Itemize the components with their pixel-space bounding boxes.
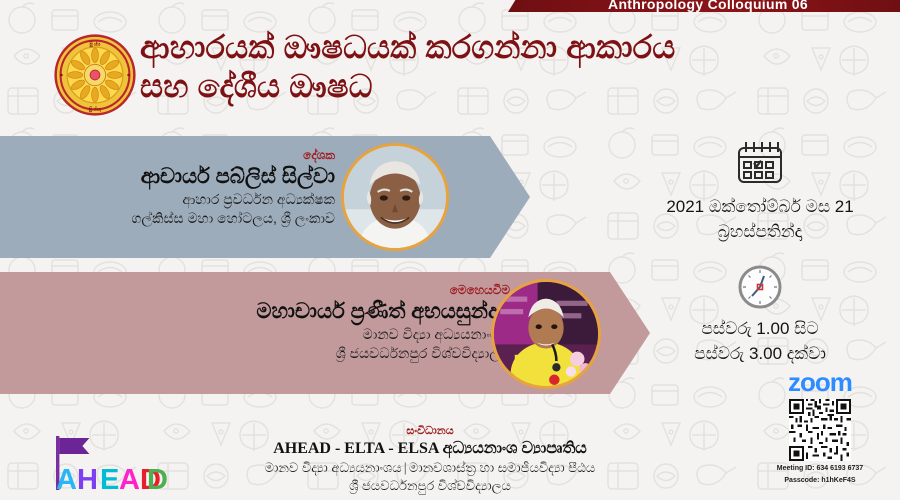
event-details-column: 2021 ඔක්තෝම්බර් මස 21 බ්‍රහස්පතින්දා පස්… [620,138,900,374]
svg-text:A: A [56,464,77,494]
speaker-affiliation: ගල්කිස්ස මහා හෝටලය, ශ්‍රී ලංකාව [5,209,335,228]
svg-text:E: E [100,464,119,494]
title-line-2: සහ දේශීය ඖෂධ [140,67,860,106]
zoom-join-area[interactable]: zoom [744,368,896,485]
event-date-block: 2021 ඔක්තෝම්බර් මස 21 බ්‍රහස්පතින්දා [620,138,900,244]
event-time-line-1: පස්වරු 1.00 සිට [620,316,900,341]
organizer-faculty: මානවශාස්ත්‍ර හා සමාජීයවිද්‍යා පීඨය [409,460,595,475]
poster-title: ආහාරයක් ඖෂධයක් කරගන්නා ආකාරය සහ දේශීය ඖෂ… [140,28,860,106]
zoom-logo: zoom [744,368,896,396]
zoom-meeting-id: Meeting ID: 634 6193 6737 [744,464,896,473]
calendar-icon [620,138,900,188]
clock-icon [620,264,900,310]
top-ribbon-banner: Anthropology Colloquium 06 [508,0,900,12]
title-line-1: ආහාරයක් ඖෂධයක් කරගන්නා ආකාරය [140,28,860,67]
speaker-info: දේශක ආචාර්ය පබ්ලිස් සිල්වා ආහාර ප්‍රවර්ධ… [5,148,335,228]
event-date-line-1: 2021 ඔක්තෝම්බර් මස 21 [620,194,900,219]
poster-canvas: Anthropology Colloquium 06 [0,0,900,500]
moderator-info: මෙහෙයවීම මහාචාර්ය ප්‍රණීත් අභයසුන්දර මාන… [180,283,510,363]
moderator-portrait [491,279,601,389]
organizer-department: මානව විද්‍යා අධ්‍යයනාංශය [265,460,402,475]
moderator-role-label: මෙහෙයවීම [180,283,510,298]
organizer-block: සංවිධානය AHEAD - ELTA - ELSA අධ්‍යයනාංශ … [190,424,670,495]
qr-code-icon[interactable] [789,399,851,461]
organizer-project: AHEAD - ELTA - ELSA අධ්‍යයනාංශ ව්‍යාපෘති… [190,438,670,459]
moderator-name: මහාචාර්ය ප්‍රණීත් අභයසුන්දර [180,298,510,325]
event-time-block: පස්වරු 1.00 සිට පස්වරු 3.00 දක්වා [620,264,900,366]
speaker-portrait [341,143,449,251]
organizer-separator: | [402,460,409,475]
event-time-line-2: පස්වරු 3.00 දක්වා [620,341,900,366]
organizer-role-label: සංවිධානය [190,424,670,438]
speaker-position: ආහාර ප්‍රවර්ධන අධ්‍යක්ෂක [5,190,335,209]
svg-text:D: D [147,464,168,494]
event-date-line-2: බ්‍රහස්පතින්දා [620,219,900,244]
svg-text:A: A [119,464,140,494]
moderator-university: ශ්‍රී ජයවර්ධනපුර විශ්වවිද්‍යාලය [180,344,510,363]
university-crest-icon: සිු ය්ය සිු ය්යැ [54,34,136,116]
svg-text:H: H [77,464,98,494]
ribbon-title: Anthropology Colloquium 06 [608,0,808,11]
organizer-departments: මානව විද්‍යා අධ්‍යයනාංශය|මානවශාස්ත්‍ර හා… [190,459,670,477]
moderator-department: මානව විද්‍යා අධ්‍යයනාංශය [180,325,510,344]
speaker-name: ආචාර්ය පබ්ලිස් සිල්වා [5,163,335,190]
zoom-passcode: Passcode: h1hKeF4S [744,476,896,485]
speaker-role-label: දේශක [5,148,335,163]
organizer-university: ශ්‍රී ජයවර්ධනපුර විශ්වවිද්‍යාලය [190,477,670,495]
ahead-logo: A H E A D D [48,432,173,494]
